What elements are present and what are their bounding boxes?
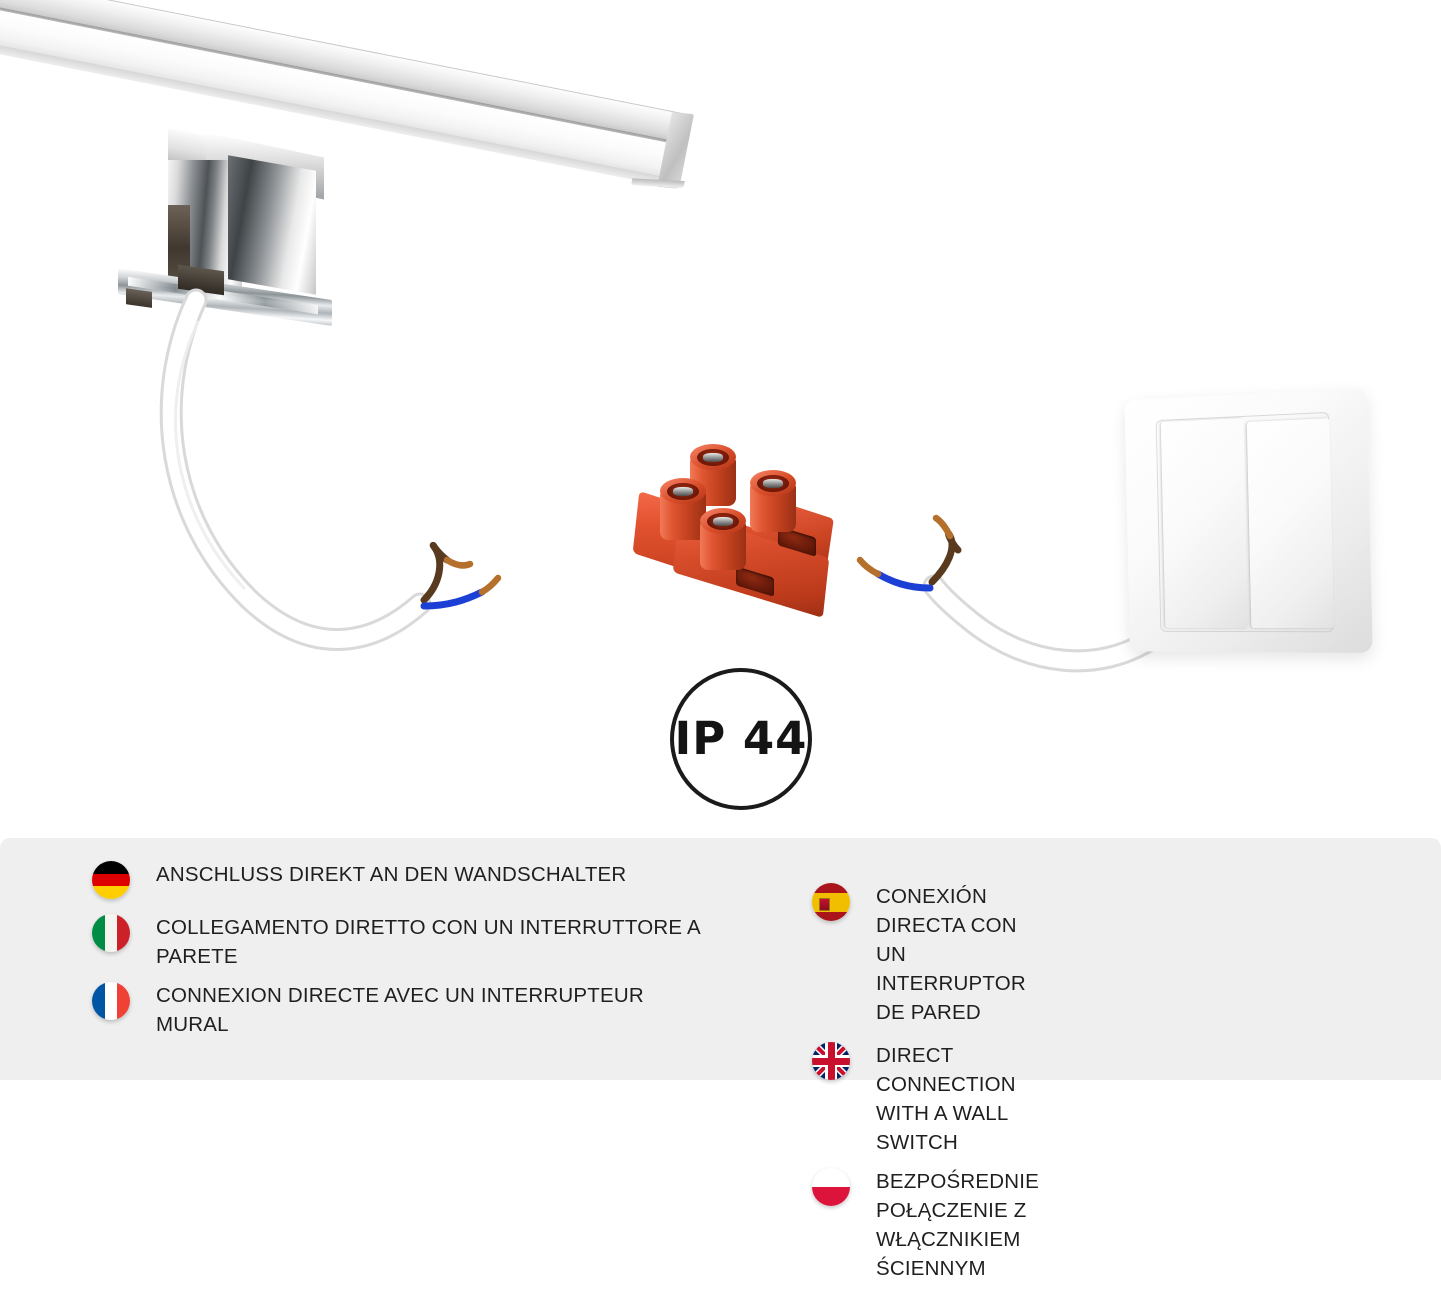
wall-switch[interactable] xyxy=(1122,394,1368,652)
language-footer: ANSCHLUSS DIREKT AN DEN WANDSCHALTER COL… xyxy=(0,838,1441,1080)
flag-united-kingdom-icon xyxy=(812,1042,850,1080)
lang-text-pl: BEZPOŚREDNIE POŁĄCZENIE Z WŁĄCZNIKIEM ŚC… xyxy=(876,1167,1039,1283)
flag-spain-icon xyxy=(812,883,850,921)
wall-switch-rocker-left[interactable] xyxy=(1161,418,1248,628)
wall-switch-rocker-right[interactable] xyxy=(1247,418,1334,628)
infographic-page: IP 44 xyxy=(0,0,1441,1080)
product-scene: IP 44 xyxy=(0,0,1441,838)
lang-text-es: CONEXIÓN DIRECTA CON UN INTERRUPTOR DE P… xyxy=(876,882,1026,1027)
footer-column-right: CONEXIÓN DIRECTA CON UN INTERRUPTOR DE P… xyxy=(0,838,721,1293)
flag-poland-icon xyxy=(812,1168,850,1206)
lang-text-en: DIRECT CONNECTION WITH A WALL SWITCH xyxy=(876,1041,1016,1157)
